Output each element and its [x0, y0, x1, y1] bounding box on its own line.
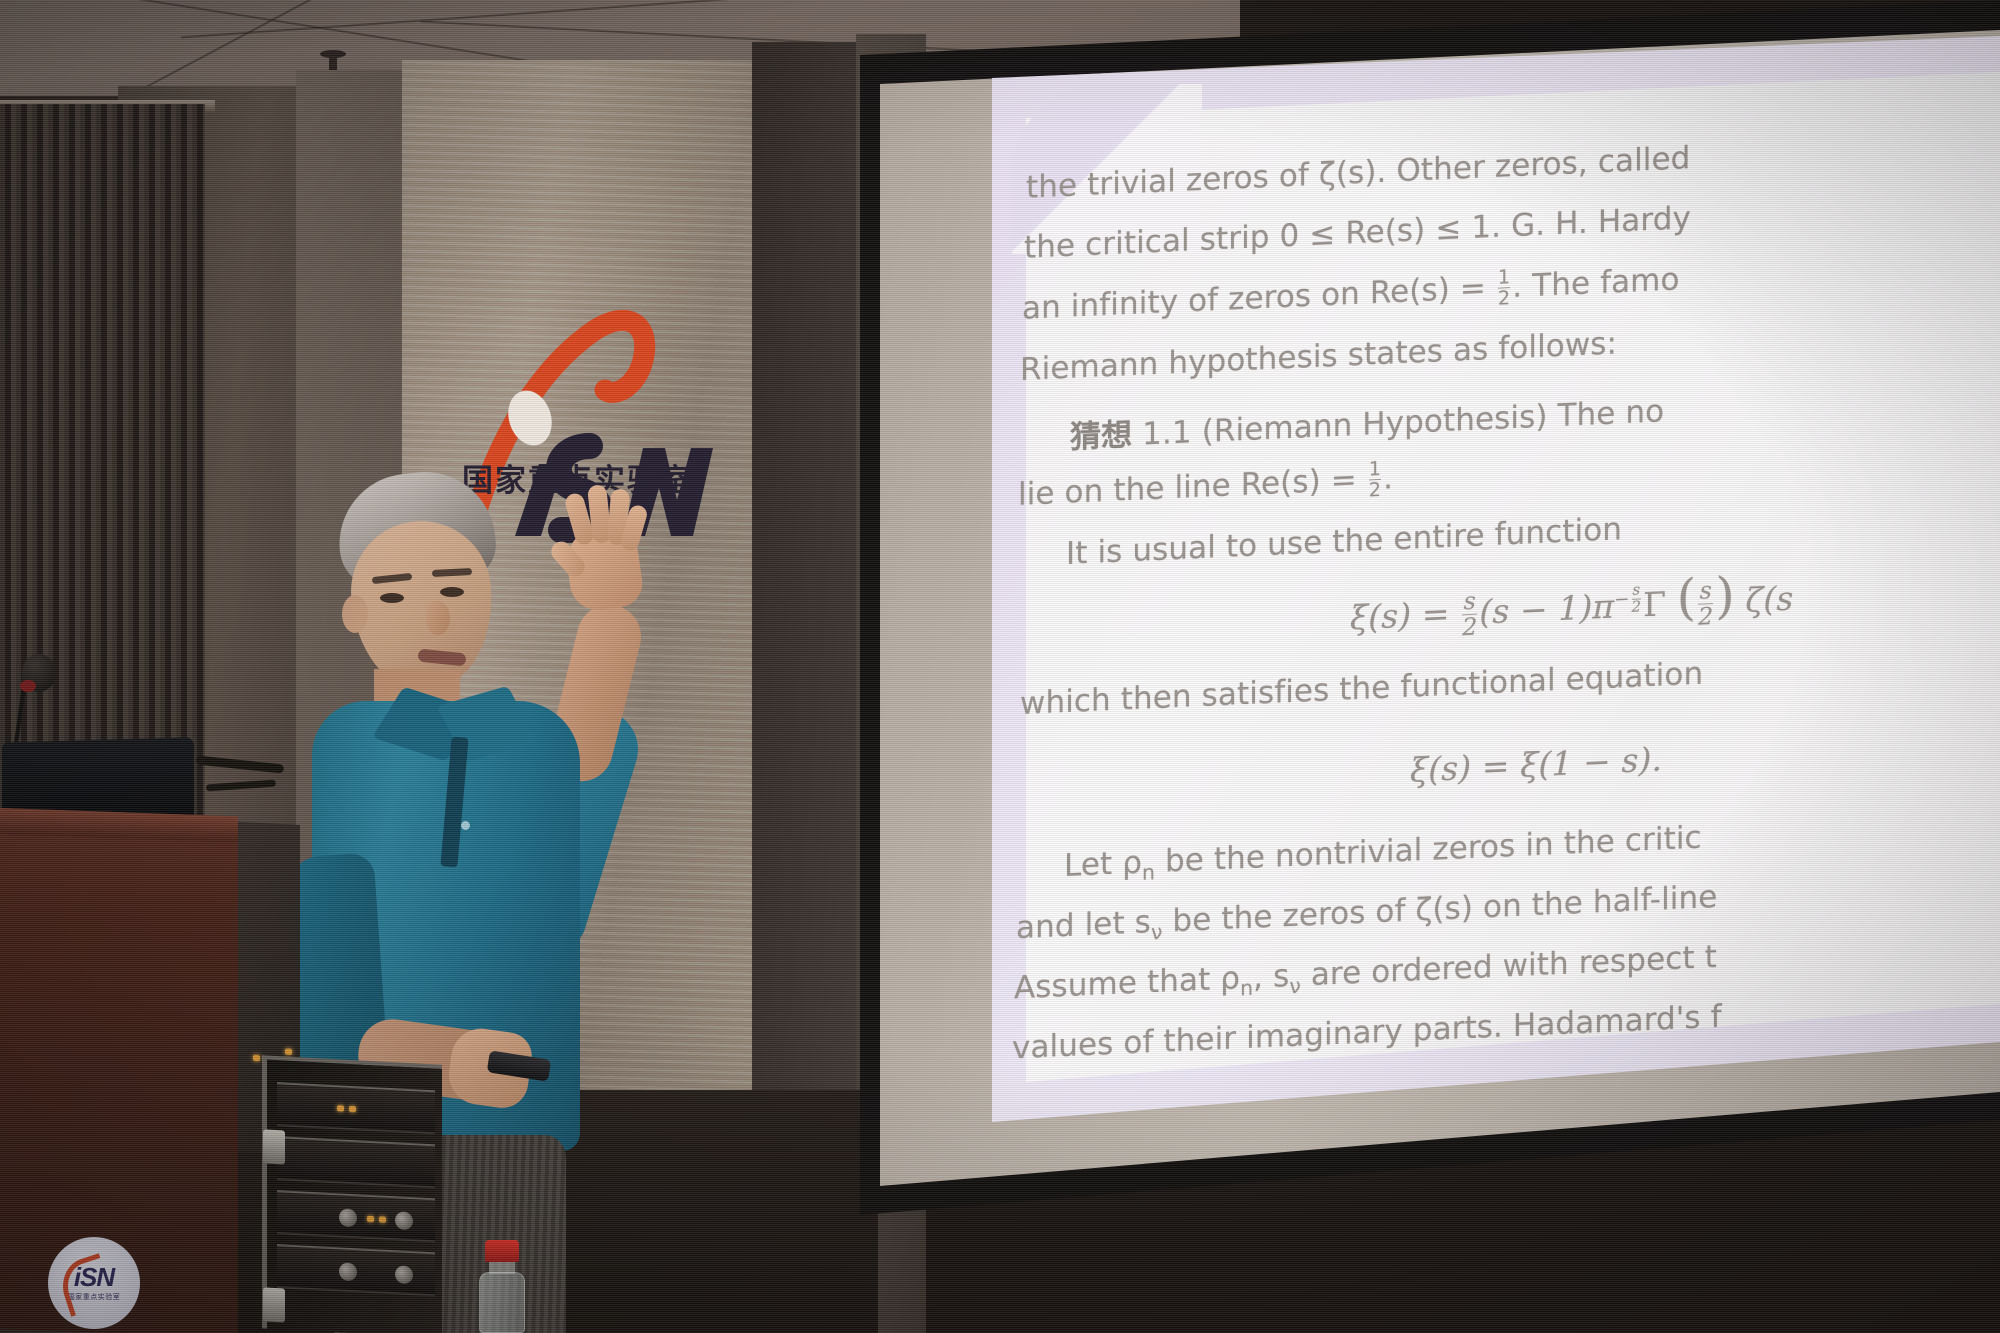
- slide-line-14: values of their imaginary parts. Hadamar…: [1012, 999, 1722, 1067]
- slide-line-11: Let ρn be the nontrivial zeros in the cr…: [1064, 820, 1702, 889]
- slide-line-13: Assume that ρn, sν are ordered with resp…: [1014, 939, 1717, 1010]
- slide-line-1: the trivial zeros of ζ(s). Other zeros, …: [1026, 140, 1690, 206]
- presenter-shirt-button: [461, 821, 470, 830]
- isn-podium-logo: iSN 国家重点实验室: [48, 1237, 140, 1329]
- rack-latch[interactable]: [263, 1129, 285, 1164]
- slide-equation-functional: ξ(s) = ξ(1 − s).: [1410, 739, 1662, 789]
- bottle-cap: [485, 1240, 519, 1262]
- slide-line-3: an infinity of zeros on Re(s) = 12. The …: [1022, 261, 1680, 331]
- projection-screen: the trivial zeros of ζ(s). Other zeros, …: [832, 0, 2000, 1215]
- microphone-ring: [20, 680, 36, 692]
- slide-line-5: 猜想 1.1 (Riemann Hypothesis) The no: [1070, 385, 1664, 456]
- water-bottle: [476, 1240, 528, 1333]
- slide-line-12: and let sν be the zeros of ζ(s) on the h…: [1016, 879, 1717, 950]
- rack-latch[interactable]: [263, 1287, 285, 1322]
- slide-text-block: the trivial zeros of ζ(s). Other zeros, …: [1020, 41, 2000, 1086]
- lecture-photo: 国家重点实验室 the trivial zeros of ζ(s). Other…: [0, 0, 2000, 1333]
- slide-line-6: lie on the line Re(s) = 12.: [1018, 459, 1393, 516]
- audio-equipment-rack: [262, 1055, 442, 1333]
- slide-line-4: Riemann hypothesis states as follows:: [1020, 325, 1617, 388]
- slide-equation-xi-def: ξ(s) = s2(s − 1)π−s2Γ (s2) ζ(s: [1350, 564, 1793, 646]
- presenter-hand-raised: [552, 483, 650, 615]
- presenter-eye-right: [440, 587, 464, 597]
- presenter-ear: [342, 595, 368, 633]
- slide-line-9: which then satisfies the functional equa…: [1020, 656, 1703, 722]
- slide-line-7: It is usual to use the entire function: [1066, 511, 1622, 572]
- slide-line-2: the critical strip 0 ≤ Re(s) ≤ 1. G. H. …: [1024, 200, 1691, 266]
- presenter-nose: [426, 601, 450, 635]
- presenter-eye-left: [380, 593, 404, 603]
